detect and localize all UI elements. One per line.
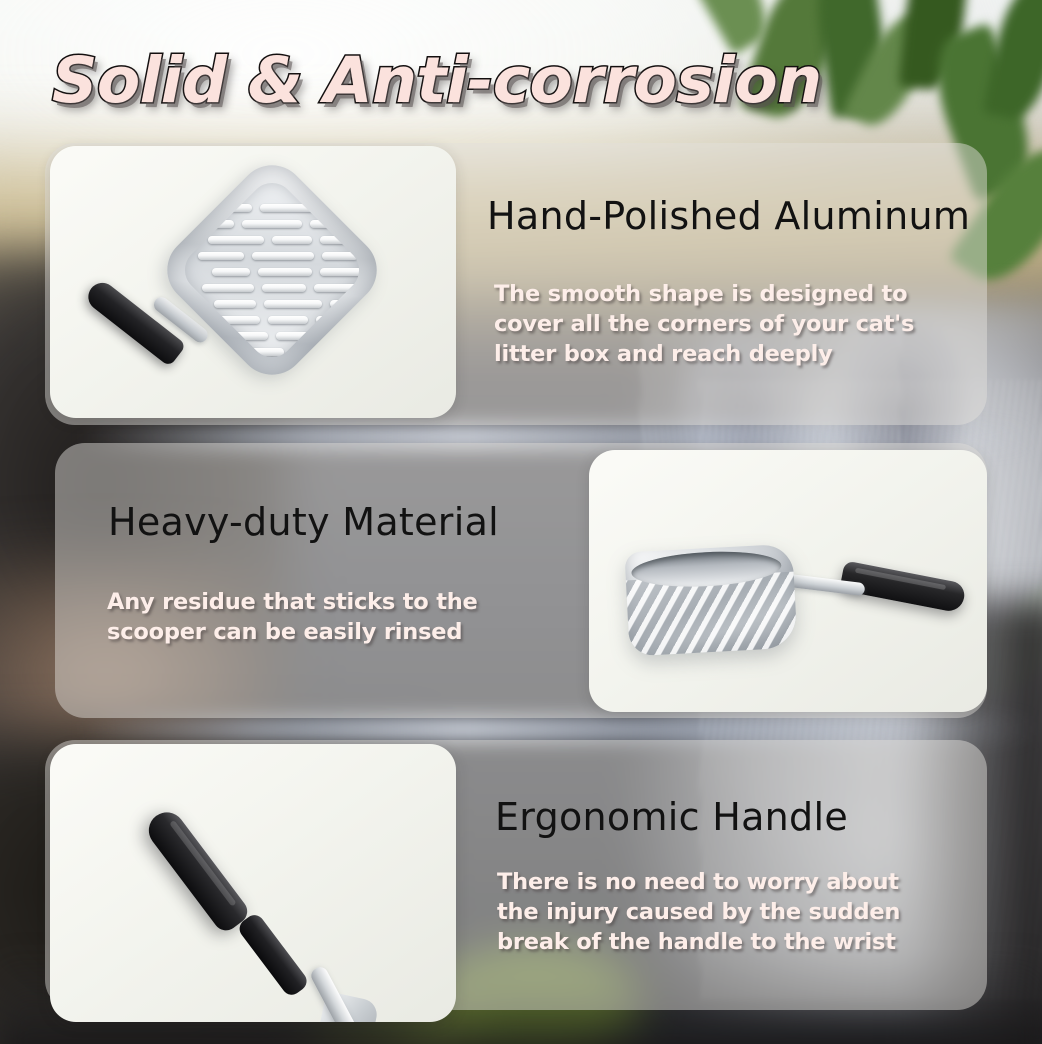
- feature-heading-2: Heavy-duty Material: [108, 500, 499, 544]
- feature-body-1: The smooth shape is designed to cover al…: [494, 280, 964, 370]
- light-streak: [80, 716, 1040, 742]
- scoop-slot-group: [194, 192, 350, 348]
- product-photo-card-1: [50, 146, 456, 418]
- product-infographic: Solid & Anti-corrosion: [0, 0, 1042, 1044]
- scoop-blade-icon: [153, 151, 391, 389]
- scoop-bowl-icon: [624, 544, 797, 657]
- page-title: Solid & Anti-corrosion: [52, 44, 822, 117]
- ergonomic-handle-icon: [142, 805, 253, 935]
- product-photo-card-3: [50, 744, 456, 1022]
- feature-heading-3: Ergonomic Handle: [495, 795, 848, 839]
- feature-body-2: Any residue that sticks to the scooper c…: [107, 588, 567, 648]
- product-photo-card-2: [589, 450, 987, 712]
- feature-body-3: There is no need to worry about the inju…: [497, 868, 937, 958]
- feature-heading-1: Hand-Polished Aluminum: [487, 194, 970, 238]
- scoop-handle-collar: [236, 911, 311, 999]
